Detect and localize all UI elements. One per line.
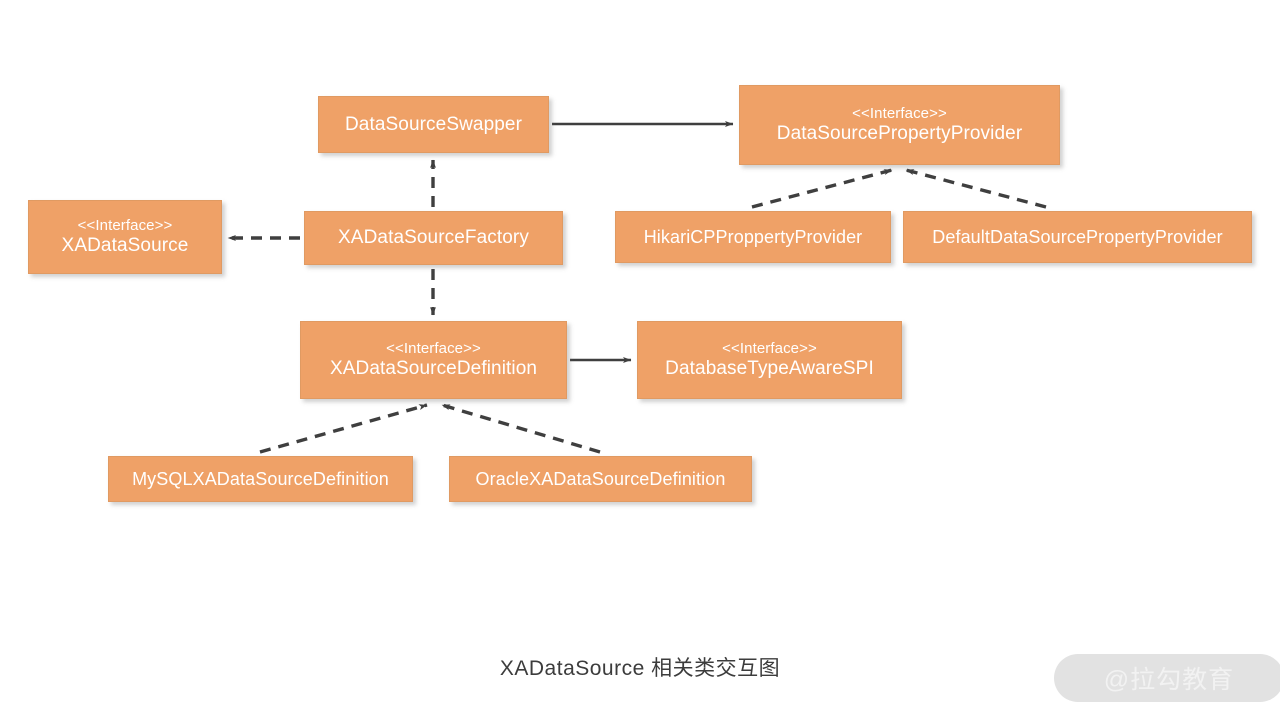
class-node-data-source-swapper[interactable]: DataSourceSwapper	[318, 96, 549, 153]
class-name: MySQLXADataSourceDefinition	[132, 469, 389, 490]
class-name: DatabaseTypeAwareSPI	[665, 358, 874, 380]
stereotype-label: <<Interface>>	[852, 105, 947, 122]
class-node-default-data-source-property-provider[interactable]: DefaultDataSourcePropertyProvider	[903, 211, 1252, 263]
class-name: XADataSource	[62, 235, 189, 257]
class-name: HikariCPProppertyProvider	[644, 227, 863, 248]
class-name: XADataSourceFactory	[338, 227, 529, 249]
class-name: DataSourcePropertyProvider	[777, 123, 1023, 145]
diagram-canvas: DataSourceSwapper <<Interface>> DataSour…	[0, 0, 1280, 720]
connector-hikaricp-to-property-provider	[752, 170, 892, 207]
watermark-text: @拉勾教育	[1104, 660, 1234, 696]
class-node-database-type-aware-spi[interactable]: <<Interface>> DatabaseTypeAwareSPI	[637, 321, 902, 399]
class-name: XADataSourceDefinition	[330, 358, 537, 380]
class-node-data-source-property-provider[interactable]: <<Interface>> DataSourcePropertyProvider	[739, 85, 1060, 165]
stereotype-label: <<Interface>>	[78, 217, 173, 234]
connector-mysql-to-definition	[260, 405, 427, 452]
class-name: DefaultDataSourcePropertyProvider	[932, 227, 1222, 248]
stereotype-label: <<Interface>>	[722, 340, 817, 357]
class-node-xa-data-source-definition[interactable]: <<Interface>> XADataSourceDefinition	[300, 321, 567, 399]
class-node-mysql-xa-data-source-definition[interactable]: MySQLXADataSourceDefinition	[108, 456, 413, 502]
stereotype-label: <<Interface>>	[386, 340, 481, 357]
class-name: OracleXADataSourceDefinition	[476, 469, 726, 490]
class-node-xa-data-source-factory[interactable]: XADataSourceFactory	[304, 211, 563, 265]
class-node-xa-data-source[interactable]: <<Interface>> XADataSource	[28, 200, 222, 274]
connector-default-provider-to-property-provider	[906, 170, 1046, 207]
watermark-badge: @拉勾教育	[1054, 654, 1280, 702]
class-name: DataSourceSwapper	[345, 114, 522, 136]
connector-oracle-to-definition	[442, 405, 600, 452]
class-node-hikaricp-proppery-provider[interactable]: HikariCPProppertyProvider	[615, 211, 891, 263]
class-node-oracle-xa-data-source-definition[interactable]: OracleXADataSourceDefinition	[449, 456, 752, 502]
